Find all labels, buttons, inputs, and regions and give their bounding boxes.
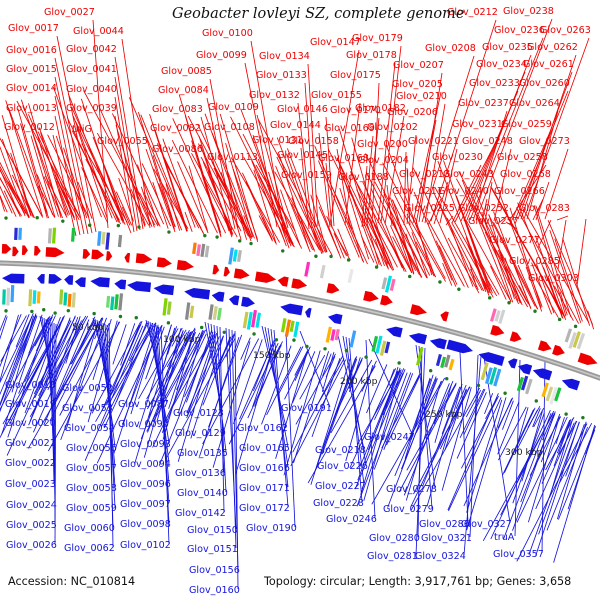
gene-label[interactable]: Glov_0016 xyxy=(6,45,57,56)
gene-label[interactable]: Glov_0327 xyxy=(461,519,512,530)
gene-label[interactable]: Glov_0247 xyxy=(364,432,415,443)
gene-tick-line xyxy=(189,166,208,231)
gene-label[interactable]: Glov_0086 xyxy=(152,144,203,155)
gene-label[interactable]: Glov_0140 xyxy=(177,488,228,499)
gene-tick-line xyxy=(33,319,83,432)
gene-label[interactable]: Glov_0191 xyxy=(281,403,332,414)
page-title: Geobacter lovleyi SZ, complete genome xyxy=(172,6,464,22)
gene-label[interactable]: Glov_0210 xyxy=(396,91,447,102)
gene-label[interactable]: Glov_0188 xyxy=(338,172,389,183)
gene-label[interactable]: Glov_0278 xyxy=(386,484,437,495)
gene-label[interactable]: Glov_0321 xyxy=(421,533,472,544)
gene-label[interactable]: Glov_0279 xyxy=(383,504,434,515)
gene-label[interactable]: Glov_0178 xyxy=(346,50,397,61)
gene-label[interactable]: Glov_0238 xyxy=(503,6,554,17)
gene-label[interactable]: Glov_0021 xyxy=(5,438,56,449)
genome-map-viewer: 50 kbp100 kbp150 kbp200 kbp250 kbp300 kb… xyxy=(0,0,600,600)
gene-label[interactable]: Glov_0190 xyxy=(246,523,297,534)
gene-label[interactable]: Glov_0200 xyxy=(357,139,408,150)
gene-label[interactable]: Glov_0084 xyxy=(158,85,209,96)
scale-tick-label: 150 kbp xyxy=(253,350,291,361)
gene-label[interactable]: Glov_0158 xyxy=(288,136,339,147)
gene-label[interactable]: Glov_0234 xyxy=(476,59,527,70)
gene-tick-line xyxy=(588,311,594,329)
gene-label[interactable]: Glov_0240 xyxy=(438,186,489,197)
gene-label[interactable]: Glov_0228 xyxy=(313,498,364,509)
gene-label[interactable]: Glov_0159 xyxy=(281,170,332,181)
gene-label[interactable]: Glov_0155 xyxy=(311,90,362,101)
gene-tick-line xyxy=(536,422,580,556)
gene-label[interactable]: Glov_0303 xyxy=(528,273,579,284)
gene-label[interactable]: Glov_0108 xyxy=(204,122,255,133)
gene-label[interactable]: Glov_0248 xyxy=(462,136,513,147)
gene-label[interactable]: Glov_0098 xyxy=(120,519,171,530)
gene-label[interactable]: Glov_0144 xyxy=(270,120,321,131)
gene-label[interactable]: Glov_0060 xyxy=(64,523,115,534)
scale-tick-label: 250 kbp xyxy=(425,409,463,420)
gene-label[interactable]: Glov_0277 xyxy=(489,235,540,246)
gene-label[interactable]: Glov_0129 xyxy=(175,428,226,439)
gene-label[interactable]: Glov_0087 xyxy=(118,399,169,410)
gene-label[interactable]: Glov_0109 xyxy=(208,102,259,113)
gene-label[interactable]: Glov_0165 xyxy=(239,443,290,454)
gene-label[interactable]: Glov_0025 xyxy=(6,520,57,531)
gene-label[interactable]: Glov_0097 xyxy=(120,499,171,510)
gene-label[interactable]: Glov_0225 xyxy=(404,203,455,214)
gene-label[interactable]: Glov_0136 xyxy=(175,468,226,479)
gene-label[interactable]: Glov_0090 xyxy=(118,419,169,430)
gene-tick-line xyxy=(293,351,315,402)
gene-label[interactable]: Glov_0258 xyxy=(497,152,548,163)
gene-label[interactable]: Glov_0204 xyxy=(358,155,409,166)
gene-label[interactable]: Glov_0132 xyxy=(249,90,300,101)
scale-tick-label: 200 kbp xyxy=(340,376,378,387)
gene-label[interactable]: Glov_0206 xyxy=(387,107,438,118)
scale-tick-label: 50 kbp xyxy=(72,322,104,333)
gene-label[interactable]: Glov_0175 xyxy=(330,70,381,81)
gene-label[interactable]: Glov_0237 xyxy=(458,98,509,109)
gene-label[interactable]: Glov_0023 xyxy=(5,479,56,490)
gene-label[interactable]: Glov_0166 xyxy=(239,463,290,474)
gene-label[interactable]: Glov_0236 xyxy=(494,25,545,36)
gene-label[interactable]: Glov_0211 xyxy=(392,186,443,197)
gene-label[interactable]: Glov_0013 xyxy=(6,103,57,114)
gene-leader-line xyxy=(470,355,478,537)
gene-leader-line xyxy=(369,339,413,436)
gene-label[interactable]: Glov_0273 xyxy=(519,136,570,147)
gene-label[interactable]: Glov_0160 xyxy=(189,585,240,596)
gene-label[interactable]: Glov_0018 xyxy=(5,380,56,391)
gene-label[interactable]: Glov_0102 xyxy=(120,540,171,551)
gene-label[interactable]: Glov_0100 xyxy=(202,28,253,39)
gene-tick-line xyxy=(586,430,595,454)
gene-tick-line xyxy=(513,412,556,531)
gene-label[interactable]: Glov_0162 xyxy=(237,423,288,434)
gene-label[interactable]: Glov_0085 xyxy=(161,66,212,77)
gene-label[interactable]: Glov_0014 xyxy=(6,83,57,94)
gene-label[interactable]: Glov_0202 xyxy=(367,122,418,133)
gene-label[interactable]: Glov_0053 xyxy=(62,403,113,414)
gene-tick-line xyxy=(218,337,230,367)
gene-tick-line xyxy=(517,424,587,562)
gene-label[interactable]: Glov_0179 xyxy=(352,33,403,44)
gene-label[interactable]: Glov_0044 xyxy=(73,26,124,37)
gene-label[interactable]: Glov_0261 xyxy=(523,59,574,70)
gene-label[interactable]: Glov_0172 xyxy=(239,503,290,514)
gene-tick-line xyxy=(292,204,313,250)
gene-label[interactable]: Glov_0017 xyxy=(8,23,59,34)
gene-tick-line xyxy=(439,246,457,285)
gene-label[interactable]: Glov_0082 xyxy=(150,123,201,134)
gene-label[interactable]: Glov_0235 xyxy=(482,42,533,53)
gene-label[interactable]: Glov_0243 xyxy=(443,169,494,180)
gene-label[interactable]: Glov_0052 xyxy=(62,383,113,394)
gene-label[interactable]: Glov_0257 xyxy=(468,216,519,227)
gene-tick-line xyxy=(178,161,209,233)
gene-label[interactable]: Glov_0093 xyxy=(120,439,171,450)
gene-label[interactable]: Glov_0040 xyxy=(66,84,117,95)
gene-label[interactable]: Glov_0266 xyxy=(494,186,545,197)
gene-label[interactable]: Glov_0150 xyxy=(187,525,238,536)
gene-label[interactable]: Glov_0280 xyxy=(369,533,420,544)
gene-tick-line xyxy=(558,426,595,519)
gene-label[interactable]: Glov_0056 xyxy=(66,443,117,454)
gene-label[interactable]: Glov_0012 xyxy=(4,122,55,133)
gene-label[interactable]: Glov_0113 xyxy=(207,152,258,163)
gene-label[interactable]: Glov_0094 xyxy=(120,459,171,470)
gene-tick-line xyxy=(367,364,387,413)
gene-leader-line xyxy=(557,216,568,220)
gene-label[interactable]: Glov_0041 xyxy=(66,64,117,75)
gene-label[interactable]: Glov_0027 xyxy=(44,7,95,18)
gene-label[interactable]: Glov_0357 xyxy=(493,549,544,560)
gene-label[interactable]: Glov_0133 xyxy=(256,70,307,81)
gene-label[interactable]: Glov_0054 xyxy=(64,423,115,434)
gene-label[interactable]: Glov_0259 xyxy=(501,119,552,130)
gene-label[interactable]: thiG xyxy=(72,124,92,135)
accession-text: Accession: NC_010814 xyxy=(8,575,135,588)
gene-label[interactable]: Glov_0262 xyxy=(527,42,578,53)
gene-label[interactable]: Glov_0264 xyxy=(509,98,560,109)
gene-label[interactable]: Glov_0096 xyxy=(120,479,171,490)
gene-label[interactable]: Glov_0156 xyxy=(189,565,240,576)
gene-label[interactable]: Glov_0123 xyxy=(173,408,224,419)
gene-label[interactable]: Glov_0024 xyxy=(6,500,57,511)
gene-label[interactable]: Glov_0135 xyxy=(177,448,228,459)
gene-label[interactable]: Glov_0059 xyxy=(66,503,117,514)
gene-label[interactable]: Glov_0246 xyxy=(326,514,377,525)
gene-label[interactable]: Glov_0022 xyxy=(5,458,56,469)
gene-label[interactable]: Glov_0221 xyxy=(408,136,459,147)
gene-label[interactable]: Glov_0260 xyxy=(519,78,570,89)
gene-label[interactable]: Glov_0042 xyxy=(66,44,117,55)
gene-label[interactable]: Glov_0324 xyxy=(415,551,466,562)
gene-tick-line xyxy=(436,241,456,287)
scale-tick-label: 300 kbp xyxy=(505,447,543,458)
gene-label[interactable]: Glov_0208 xyxy=(425,43,476,54)
gene-tick-line xyxy=(427,218,465,287)
gene-label[interactable]: Glov_0231 xyxy=(452,119,503,130)
gene-label[interactable]: Glov_0285 xyxy=(509,256,560,267)
gene-label[interactable]: Glov_0205 xyxy=(392,79,443,90)
gene-tick-line xyxy=(179,95,221,233)
gene-label[interactable]: Glov_0055 xyxy=(97,136,148,147)
gene-label[interactable]: Glov_0268 xyxy=(500,169,551,180)
gene-label[interactable]: Glov_0062 xyxy=(64,543,115,554)
gene-label[interactable]: Glov_0263 xyxy=(540,25,591,36)
gene-label[interactable]: Glov_0233 xyxy=(469,78,520,89)
gene-label[interactable]: Glov_0039 xyxy=(66,103,117,114)
forward-gene-labels: Glov_0017Glov_0027Glov_0016Glov_0044Glov… xyxy=(4,6,591,284)
gene-label[interactable]: Glov_0015 xyxy=(6,64,57,75)
gene-label[interactable]: Glov_0226 xyxy=(317,461,368,472)
gene-label[interactable]: truA xyxy=(494,532,515,543)
gene-label[interactable]: Glov_0083 xyxy=(152,104,203,115)
gene-label[interactable]: Glov_0151 xyxy=(187,544,238,555)
gene-label[interactable]: Glov_0058 xyxy=(66,483,117,494)
gene-tick-line xyxy=(386,368,404,406)
gene-label[interactable]: Glov_0218 xyxy=(315,445,366,456)
gene-label[interactable]: Glov_0134 xyxy=(259,51,310,62)
gene-label[interactable]: Glov_0020 xyxy=(5,418,56,429)
gene-label[interactable]: Glov_0146 xyxy=(277,104,328,115)
gene-tick-line xyxy=(486,398,498,419)
gene-label[interactable]: Glov_0281 xyxy=(367,551,418,562)
gene-label[interactable]: Glov_0252 xyxy=(458,203,509,214)
gene-label[interactable]: Glov_0026 xyxy=(6,540,57,551)
gene-label[interactable]: Glov_0099 xyxy=(196,50,247,61)
gene-label[interactable]: Glov_0019 xyxy=(5,399,56,410)
gene-tick-line xyxy=(335,234,350,260)
gene-label[interactable]: Glov_0227 xyxy=(315,481,366,492)
gene-label[interactable]: Glov_0283 xyxy=(519,203,570,214)
gene-label[interactable]: Glov_0207 xyxy=(393,60,444,71)
gene-label[interactable]: Glov_0057 xyxy=(66,463,117,474)
gene-label[interactable]: Glov_0230 xyxy=(432,152,483,163)
genome-map-canvas: 50 kbp100 kbp150 kbp200 kbp250 kbp300 kb… xyxy=(0,0,600,600)
scale-tick-label: 100 kbp xyxy=(163,334,201,345)
genome-summary-text: Topology: circular; Length: 3,917,761 bp… xyxy=(263,575,571,588)
gene-label[interactable]: Glov_0171 xyxy=(239,483,290,494)
gene-label[interactable]: Glov_0142 xyxy=(175,508,226,519)
